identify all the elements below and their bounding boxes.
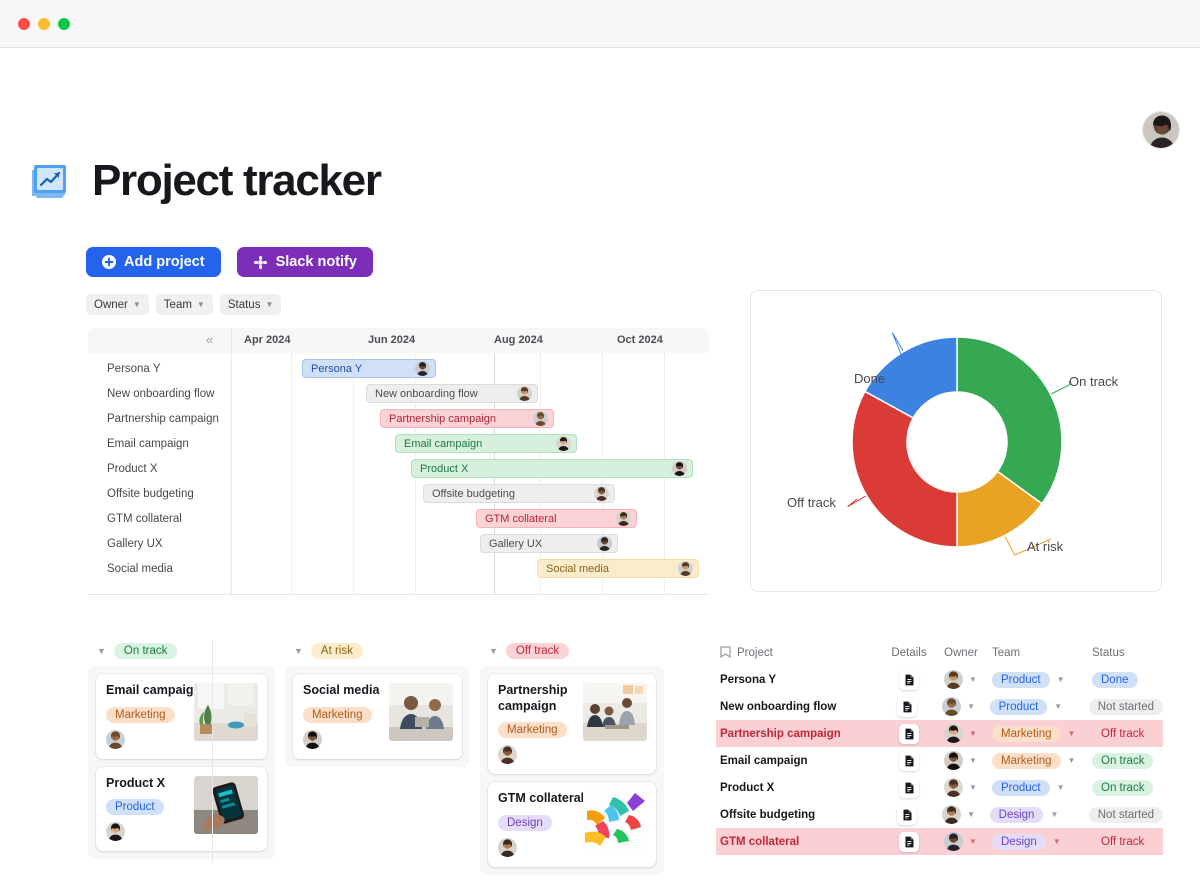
kanban-card-tag: Design — [498, 815, 552, 831]
kanban-card-avatar — [498, 838, 517, 857]
column-header-project: Project — [716, 646, 880, 661]
donut-leader-line — [848, 496, 866, 507]
table-cell-owner-avatar[interactable] — [944, 724, 963, 743]
table-cell-owner-avatar[interactable] — [942, 805, 961, 824]
gantt-bar-avatar — [533, 411, 548, 426]
avatar[interactable] — [1142, 111, 1180, 149]
table-cell-owner-avatar[interactable] — [944, 670, 963, 689]
table-cell-project: Email campaign — [720, 755, 808, 767]
kanban-card-tag: Product — [106, 799, 164, 815]
status-badge: Not started — [1089, 699, 1163, 715]
gantt-bar-label: Email campaign — [404, 438, 556, 450]
gantt-row-label: Persona Y — [107, 363, 161, 375]
filter-team-label: Team — [164, 299, 192, 311]
table-row[interactable]: Partnership campaign▼Marketing▼Off track — [716, 720, 1163, 747]
gantt-bar[interactable]: Persona Y — [302, 359, 436, 378]
kanban-card-image — [194, 776, 258, 834]
kanban-card-image — [583, 791, 647, 849]
table-cell-owner-avatar[interactable] — [944, 778, 963, 797]
slack-icon — [253, 255, 268, 270]
gantt-row-label: Gallery UX — [107, 538, 163, 550]
gantt-month-label: Jun 2024 — [368, 334, 415, 346]
column-header-team: Team — [992, 647, 1020, 659]
chevron-down-icon: ▼ — [197, 301, 205, 309]
kanban-column-header: ▼Off track — [480, 640, 664, 662]
donut-leader-line — [1051, 381, 1070, 394]
kanban-column-at-risk: ▼At riskSocial mediaMarketing — [285, 640, 470, 767]
status-badge: Done — [1092, 672, 1138, 688]
gantt-bar[interactable]: Product X — [411, 459, 693, 478]
chevron-down-icon[interactable]: ▼ — [969, 837, 977, 846]
table-row[interactable]: Product X▼Product▼On track — [716, 774, 1163, 801]
chevron-down-icon[interactable]: ▼ — [969, 675, 977, 684]
gantt-bar-avatar — [616, 511, 631, 526]
table-cell-owner-avatar[interactable] — [942, 697, 961, 716]
table-row[interactable]: New onboarding flow▼Product▼Not started — [716, 693, 1163, 720]
gantt-month-label: Aug 2024 — [494, 334, 543, 346]
gantt-row-label: Email campaign — [107, 438, 189, 450]
table-cell-team-badge: Product — [992, 672, 1050, 688]
doc-icon[interactable] — [899, 724, 919, 744]
status-donut-chart[interactable] — [751, 291, 1163, 593]
chevron-down-icon[interactable]: ▼ — [969, 729, 977, 738]
gantt-bar-label: Product X — [420, 463, 672, 475]
kanban-card-tag: Marketing — [498, 722, 567, 738]
filter-owner[interactable]: Owner ▼ — [86, 294, 149, 315]
donut-slice-on-track[interactable] — [957, 337, 1062, 504]
kanban-card-image — [389, 683, 453, 741]
chevron-down-icon[interactable]: ▼ — [967, 810, 975, 819]
app-page: Project tracker Add project Slack notify… — [0, 48, 1200, 893]
gantt-bar-label: Persona Y — [311, 363, 415, 375]
chevron-down-icon: ▼ — [265, 301, 273, 309]
kanban-card-image — [583, 683, 647, 741]
chevron-down-icon: ▼ — [133, 301, 141, 309]
table-cell-team-badge: Design — [990, 807, 1044, 823]
table-cell-team-badge: Marketing — [992, 753, 1061, 769]
doc-icon[interactable] — [899, 832, 919, 852]
kanban-card-list: Partnership campaignMarketingGTM collate… — [480, 666, 664, 875]
gantt-row-label: Partnership campaign — [107, 413, 219, 425]
table-cell-team-badge: Marketing — [992, 726, 1061, 742]
chevron-down-icon[interactable]: ▼ — [1068, 729, 1076, 738]
page-title-row: Project tracker — [24, 156, 381, 206]
chart-document-icon — [24, 156, 74, 206]
table-cell-project: New onboarding flow — [720, 701, 836, 713]
chevron-down-icon[interactable]: ▼ — [1068, 756, 1076, 765]
status-badge: Off track — [1092, 726, 1153, 742]
gantt-bar-avatar — [594, 486, 609, 501]
chevron-down-icon[interactable]: ▼ — [969, 756, 977, 765]
doc-icon[interactable] — [897, 697, 917, 717]
chevron-down-icon[interactable]: ▼ — [294, 646, 303, 656]
table-row[interactable]: Email campaign▼Marketing▼On track — [716, 747, 1163, 774]
gantt-bar-avatar — [672, 461, 687, 476]
gantt-bar[interactable]: New onboarding flow — [366, 384, 538, 403]
chevron-down-icon[interactable]: ▼ — [1050, 810, 1058, 819]
slack-notify-button[interactable]: Slack notify — [237, 247, 373, 277]
chevron-down-icon[interactable]: ▼ — [97, 646, 106, 656]
add-project-button[interactable]: Add project — [86, 247, 221, 277]
filter-status-label: Status — [228, 299, 261, 311]
kanban-card-list: Email campaignMarketingProduct XProduct — [88, 666, 275, 859]
gantt-bar[interactable]: GTM collateral — [476, 509, 637, 528]
gantt-bar[interactable]: Gallery UX — [480, 534, 618, 553]
gantt-bar[interactable]: Partnership campaign — [380, 409, 554, 428]
add-project-label: Add project — [124, 254, 205, 270]
chevron-down-icon[interactable]: ▼ — [1057, 783, 1065, 792]
kanban-card-list: Social mediaMarketing — [285, 666, 470, 767]
gantt-row-label: Offsite budgeting — [107, 488, 194, 500]
page-title: Project tracker — [92, 156, 381, 206]
table-row[interactable]: GTM collateral▼Design▼Off track — [716, 828, 1163, 855]
table-cell-team-badge: Design — [992, 834, 1046, 850]
status-badge: Not started — [1089, 807, 1163, 823]
action-button-row: Add project Slack notify — [86, 247, 373, 277]
status-badge: On track — [1092, 753, 1153, 769]
gantt-bar-avatar — [517, 386, 532, 401]
status-donut-panel: Done On track Off track At risk — [750, 290, 1162, 592]
close-window-button[interactable] — [18, 18, 30, 30]
slack-notify-label: Slack notify — [276, 254, 357, 270]
doc-icon[interactable] — [897, 805, 917, 825]
table-cell-project: Persona Y — [720, 674, 776, 686]
kanban-column-off-track: ▼Off trackPartnership campaignMarketingG… — [480, 640, 664, 875]
table-cell-project: Offsite budgeting — [720, 809, 815, 821]
maximize-window-button[interactable] — [58, 18, 70, 30]
kanban-column-header: ▼On track — [88, 640, 275, 662]
kanban-card-avatar — [498, 745, 517, 764]
kanban-card[interactable]: GTM collateralDesign — [488, 782, 656, 867]
donut-label-done: Done — [854, 371, 885, 386]
gantt-bar-label: Partnership campaign — [389, 413, 533, 425]
table-row[interactable]: Offsite budgeting▼Design▼Not started — [716, 801, 1163, 828]
kanban-card[interactable]: Product XProduct — [96, 767, 267, 852]
kanban-status-pill: On track — [114, 643, 177, 659]
filter-chip-row: Owner ▼ Team ▼ Status ▼ — [86, 294, 281, 315]
doc-icon[interactable] — [899, 670, 919, 690]
chevron-down-icon[interactable]: ▼ — [1053, 837, 1061, 846]
gantt-row-label: Product X — [107, 463, 158, 475]
table-cell-project: GTM collateral — [720, 836, 799, 848]
donut-slice-off-track[interactable] — [852, 391, 957, 547]
chevron-down-icon[interactable]: ▼ — [967, 702, 975, 711]
gantt-bar-avatar — [597, 536, 612, 551]
gantt-divider — [231, 328, 232, 595]
gantt-month-label: Oct 2024 — [617, 334, 663, 346]
bookmark-icon — [720, 646, 731, 661]
gantt-row-label: Social media — [107, 563, 173, 575]
collapse-sidebar-icon[interactable]: « — [206, 333, 213, 346]
plus-circle-icon — [102, 255, 116, 269]
gantt-bar-label: Offsite budgeting — [432, 488, 594, 500]
column-header-status: Status — [1092, 647, 1125, 659]
kanban-status-pill: At risk — [311, 643, 363, 659]
gantt-bar[interactable]: Social media — [537, 559, 699, 578]
chevron-down-icon[interactable]: ▼ — [969, 783, 977, 792]
chevron-down-icon[interactable]: ▼ — [1054, 702, 1062, 711]
column-header-details: Details — [891, 647, 926, 659]
gantt-bar-label: New onboarding flow — [375, 388, 517, 400]
column-header-owner: Owner — [944, 647, 978, 659]
doc-icon[interactable] — [899, 751, 919, 771]
window-title-bar — [0, 0, 1200, 48]
chevron-down-icon[interactable]: ▼ — [1057, 675, 1065, 684]
table-body: Persona Y▼Product▼DoneNew onboarding flo… — [716, 666, 1163, 855]
chevron-down-icon[interactable]: ▼ — [489, 646, 498, 656]
gantt-bar-avatar — [678, 561, 693, 576]
kanban-card-avatar — [106, 730, 125, 749]
status-badge: On track — [1092, 780, 1153, 796]
table-cell-owner-avatar[interactable] — [944, 832, 963, 851]
gantt-row-label: New onboarding flow — [107, 388, 214, 400]
gantt-bar-avatar — [415, 361, 430, 376]
doc-icon[interactable] — [899, 778, 919, 798]
gantt-bar-label: GTM collateral — [485, 513, 616, 525]
kanban-card-avatar — [303, 730, 322, 749]
kanban-column-header: ▼At risk — [285, 640, 470, 662]
gantt-bar[interactable]: Email campaign — [395, 434, 577, 453]
table-column-divider — [212, 640, 213, 862]
gantt-chart: « Apr 2024 Jun 2024 Aug 2024 Oct 2024 Pe… — [88, 328, 709, 595]
table-cell-project: Partnership campaign — [720, 728, 841, 740]
projects-table: Project Details Owner Team Status Person… — [716, 640, 1163, 855]
gantt-month-label: Apr 2024 — [244, 334, 290, 346]
kanban-column-on-track: ▼On trackEmail campaignMarketingProduct … — [88, 640, 275, 859]
kanban-card[interactable]: Social mediaMarketing — [293, 674, 462, 759]
kanban-card-tag: Marketing — [303, 707, 372, 723]
table-cell-owner-avatar[interactable] — [944, 751, 963, 770]
table-header-row: Project Details Owner Team Status — [716, 640, 1163, 666]
table-cell-team-badge: Product — [990, 699, 1048, 715]
table-cell-project: Product X — [720, 782, 774, 794]
donut-label-off-track: Off track — [787, 495, 836, 510]
kanban-card-avatar — [106, 822, 125, 841]
donut-label-on-track: On track — [1069, 374, 1118, 389]
table-cell-team-badge: Product — [992, 780, 1050, 796]
kanban-status-pill: Off track — [506, 643, 569, 659]
gantt-row-label: GTM collateral — [107, 513, 182, 525]
table-row[interactable]: Persona Y▼Product▼Done — [716, 666, 1163, 693]
filter-team[interactable]: Team ▼ — [156, 294, 213, 315]
minimize-window-button[interactable] — [38, 18, 50, 30]
status-badge: Off track — [1092, 834, 1153, 850]
kanban-card-image — [194, 683, 258, 741]
gantt-bar-label: Gallery UX — [489, 538, 597, 550]
kanban-card[interactable]: Email campaignMarketing — [96, 674, 267, 759]
filter-owner-label: Owner — [94, 299, 128, 311]
gantt-bar[interactable]: Offsite budgeting — [423, 484, 615, 503]
donut-label-at-risk: At risk — [1027, 539, 1063, 554]
gantt-bar-label: Social media — [546, 563, 678, 575]
kanban-card-tag: Marketing — [106, 707, 175, 723]
filter-status[interactable]: Status ▼ — [220, 294, 282, 315]
kanban-card[interactable]: Partnership campaignMarketing — [488, 674, 656, 774]
gantt-bar-avatar — [556, 436, 571, 451]
